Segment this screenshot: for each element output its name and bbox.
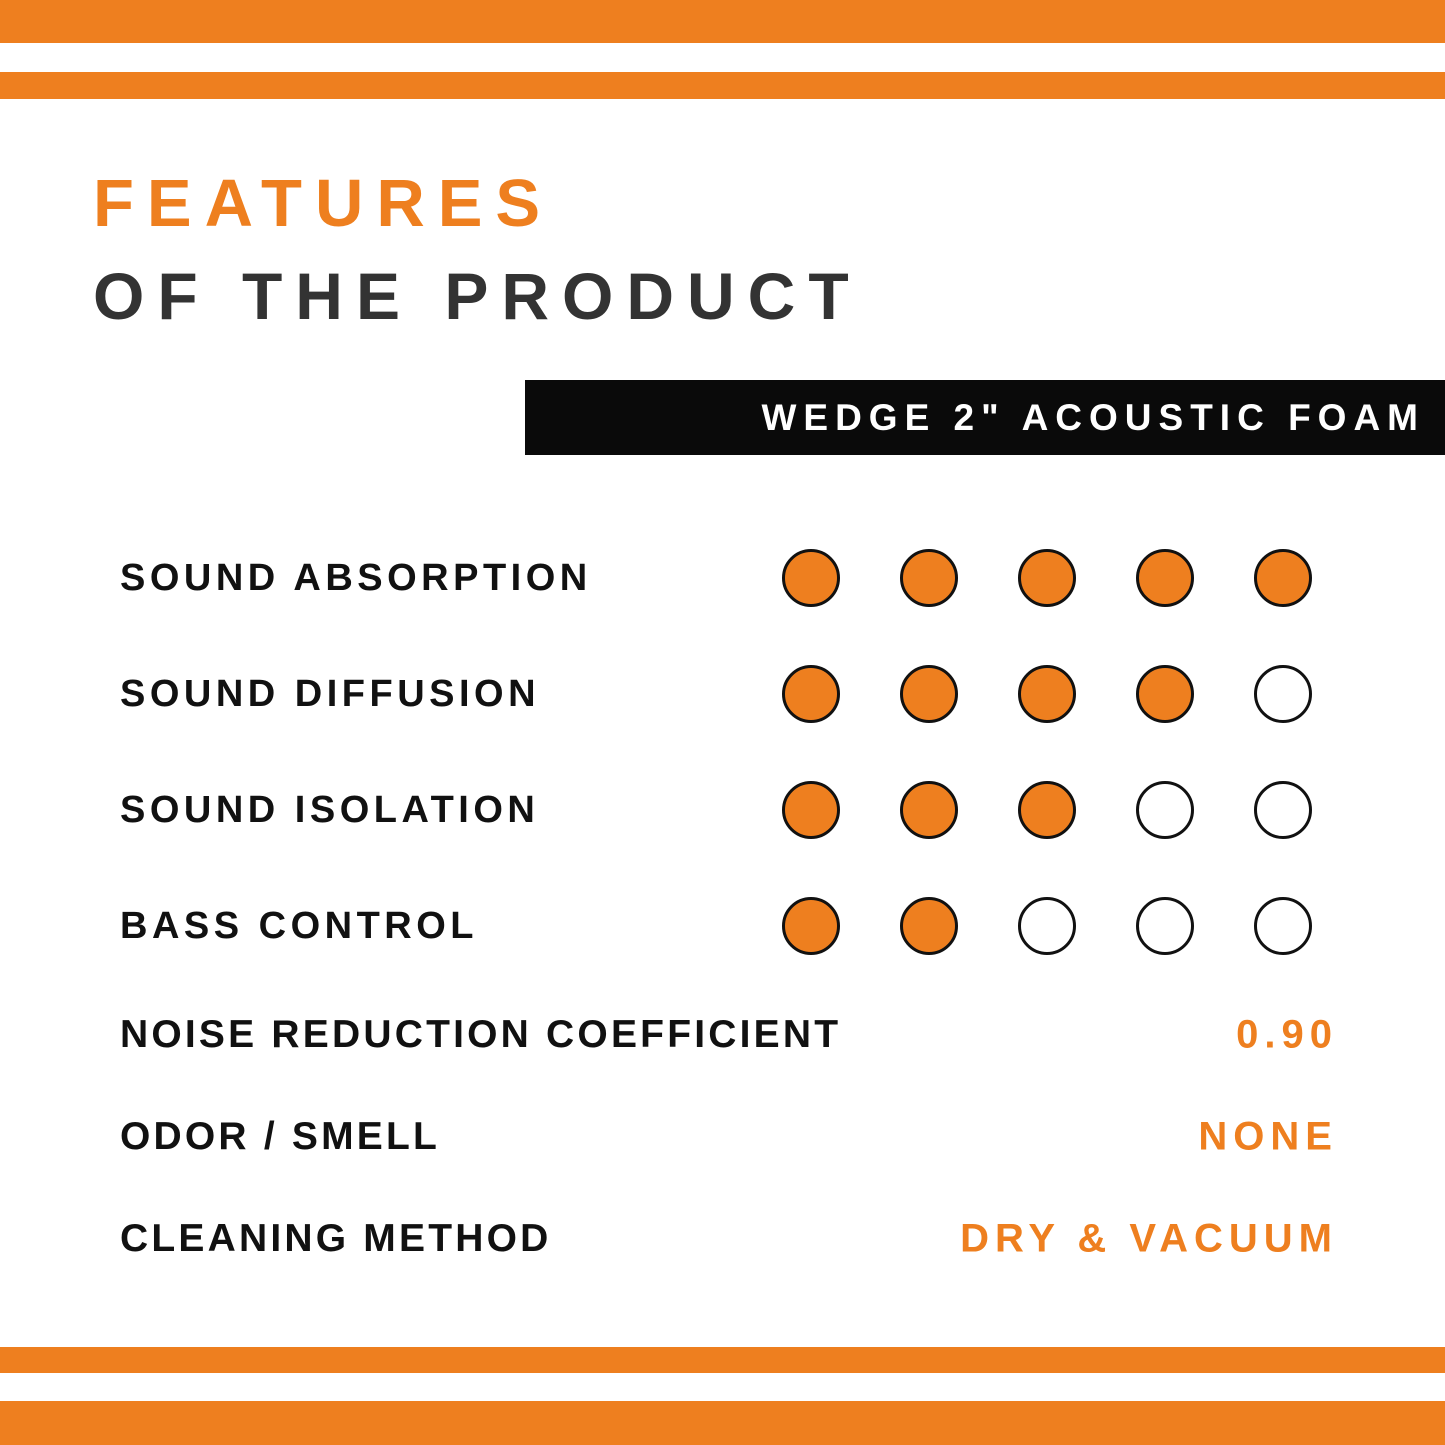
rating-dot-filled xyxy=(900,897,958,955)
rating-dot-empty xyxy=(1018,897,1076,955)
rating-dots xyxy=(782,781,1312,839)
rating-dots xyxy=(782,665,1312,723)
feature-label: NOISE REDUCTION COEFFICIENT xyxy=(120,1013,841,1057)
rating-dot-filled xyxy=(782,549,840,607)
product-name-banner: WEDGE 2" ACOUSTIC FOAM xyxy=(525,380,1445,455)
product-name-label: WEDGE 2" ACOUSTIC FOAM xyxy=(761,397,1425,439)
table-row: ODOR / SMELL NONE xyxy=(120,1086,1335,1188)
rating-dot-filled xyxy=(1018,665,1076,723)
features-table: SOUND ABSORPTION SOUND DIFFUSION SOUND I… xyxy=(120,520,1335,1290)
table-row: BASS CONTROL xyxy=(120,868,1335,984)
feature-label: SOUND DIFFUSION xyxy=(120,673,540,716)
rating-dot-filled xyxy=(1018,549,1076,607)
top-orange-bar-thin xyxy=(0,72,1445,99)
page-title: FEATURES OF THE PRODUCT xyxy=(93,170,862,329)
infographic-page: FEATURES OF THE PRODUCT WEDGE 2" ACOUSTI… xyxy=(0,0,1445,1445)
bottom-orange-bar-thin xyxy=(0,1347,1445,1373)
feature-label: SOUND ISOLATION xyxy=(120,789,539,832)
feature-label: ODOR / SMELL xyxy=(120,1115,440,1159)
table-row: SOUND ISOLATION xyxy=(120,752,1335,868)
feature-value: NONE xyxy=(1198,1115,1338,1160)
rating-dot-filled xyxy=(1018,781,1076,839)
table-row: CLEANING METHOD DRY & VACUUM xyxy=(120,1188,1335,1290)
bottom-orange-bar-thick xyxy=(0,1401,1445,1445)
rating-dot-filled xyxy=(782,665,840,723)
title-line-features: FEATURES xyxy=(93,170,862,237)
rating-dot-filled xyxy=(1136,549,1194,607)
rating-dot-empty xyxy=(1136,781,1194,839)
rating-dot-filled xyxy=(900,781,958,839)
rating-dot-filled xyxy=(782,897,840,955)
rating-dot-empty xyxy=(1254,781,1312,839)
rating-dots xyxy=(782,549,1312,607)
rating-dot-filled xyxy=(900,665,958,723)
rating-dot-filled xyxy=(782,781,840,839)
rating-dot-empty xyxy=(1254,665,1312,723)
title-line-product: OF THE PRODUCT xyxy=(93,263,862,329)
top-orange-bar-thick xyxy=(0,0,1445,43)
table-row: SOUND ABSORPTION xyxy=(120,520,1335,636)
feature-label: SOUND ABSORPTION xyxy=(120,557,592,600)
rating-dot-filled xyxy=(900,549,958,607)
table-row: SOUND DIFFUSION xyxy=(120,636,1335,752)
feature-value: DRY & VACUUM xyxy=(960,1217,1338,1262)
feature-label: BASS CONTROL xyxy=(120,905,478,948)
feature-label: CLEANING METHOD xyxy=(120,1217,552,1261)
rating-dots xyxy=(782,897,1312,955)
rating-dot-empty xyxy=(1136,897,1194,955)
rating-dot-empty xyxy=(1254,897,1312,955)
feature-value: 0.90 xyxy=(1236,1013,1338,1058)
rating-dot-filled xyxy=(1254,549,1312,607)
rating-dot-filled xyxy=(1136,665,1194,723)
table-row: NOISE REDUCTION COEFFICIENT 0.90 xyxy=(120,984,1335,1086)
